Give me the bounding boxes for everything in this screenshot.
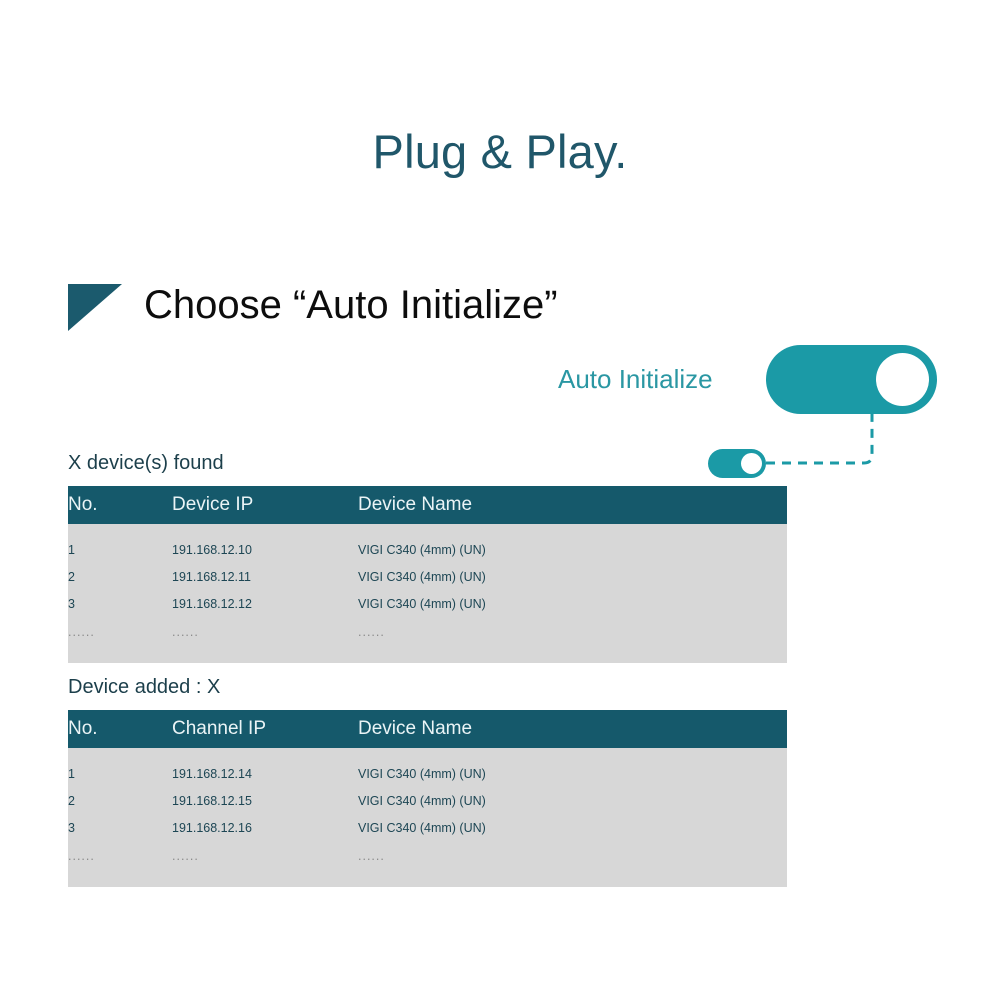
table-row[interactable]: 3 191.168.12.12 VIGI C340 (4mm) (UN) xyxy=(68,590,787,617)
column-header-no: No. xyxy=(68,486,172,524)
cell-device-name: VIGI C340 (4mm) (UN) xyxy=(358,536,787,563)
table-spacer-row xyxy=(68,524,787,536)
cell-device-name: VIGI C340 (4mm) (UN) xyxy=(358,563,787,590)
table-row[interactable]: 1 191.168.12.14 VIGI C340 (4mm) (UN) xyxy=(68,760,787,787)
found-devices-caption: X device(s) found xyxy=(68,452,787,475)
table-tail-row xyxy=(68,871,787,887)
cell-channel-ip-ellipsis: ...... xyxy=(172,841,358,871)
cell-no: 1 xyxy=(68,760,172,787)
table-row[interactable]: 1 191.168.12.10 VIGI C340 (4mm) (UN) xyxy=(68,536,787,563)
cell-device-name: VIGI C340 (4mm) (UN) xyxy=(358,787,787,814)
cell-device-name: VIGI C340 (4mm) (UN) xyxy=(358,760,787,787)
column-header-device-ip: Device IP xyxy=(172,486,358,524)
cell-device-name: VIGI C340 (4mm) (UN) xyxy=(358,590,787,617)
triangle-marker-icon xyxy=(68,284,122,331)
cell-no: 3 xyxy=(68,590,172,617)
cell-no-ellipsis: ...... xyxy=(68,617,172,647)
column-header-device-name: Device Name xyxy=(358,486,787,524)
page-canvas: Plug & Play. Choose “Auto Initialize” Au… xyxy=(0,0,1000,1000)
cell-no: 3 xyxy=(68,814,172,841)
table-row-ellipsis: ...... ...... ...... xyxy=(68,617,787,647)
cell-channel-ip: 191.168.12.14 xyxy=(172,760,358,787)
cell-no: 1 xyxy=(68,536,172,563)
column-header-no: No. xyxy=(68,710,172,748)
section-heading: Choose “Auto Initialize” xyxy=(68,282,558,331)
cell-no: 2 xyxy=(68,787,172,814)
cell-channel-ip: 191.168.12.15 xyxy=(172,787,358,814)
cell-device-ip-ellipsis: ...... xyxy=(172,617,358,647)
cell-channel-ip: 191.168.12.16 xyxy=(172,814,358,841)
cell-device-name-ellipsis: ...... xyxy=(358,841,787,871)
section-heading-label: Choose “Auto Initialize” xyxy=(144,282,558,328)
cell-device-ip: 191.168.12.12 xyxy=(172,590,358,617)
auto-initialize-toggle[interactable] xyxy=(766,345,937,414)
column-header-channel-ip: Channel IP xyxy=(172,710,358,748)
cell-device-ip: 191.168.12.10 xyxy=(172,536,358,563)
found-devices-block: X device(s) found No. Device IP Device N… xyxy=(68,452,787,663)
table-tail-row xyxy=(68,647,787,663)
table-spacer-row xyxy=(68,748,787,760)
table-row[interactable]: 3 191.168.12.16 VIGI C340 (4mm) (UN) xyxy=(68,814,787,841)
page-title: Plug & Play. xyxy=(0,124,1000,179)
cell-no-ellipsis: ...... xyxy=(68,841,172,871)
table-header-row: No. Channel IP Device Name xyxy=(68,710,787,748)
column-header-device-name: Device Name xyxy=(358,710,787,748)
table-row[interactable]: 2 191.168.12.15 VIGI C340 (4mm) (UN) xyxy=(68,787,787,814)
cell-device-name-ellipsis: ...... xyxy=(358,617,787,647)
added-devices-caption: Device added : X xyxy=(68,676,787,699)
added-devices-block: Device added : X No. Channel IP Device N… xyxy=(68,676,787,887)
auto-initialize-label: Auto Initialize xyxy=(558,364,713,395)
cell-device-ip: 191.168.12.11 xyxy=(172,563,358,590)
toggle-knob xyxy=(876,353,929,406)
added-devices-table: No. Channel IP Device Name 1 191.168.12.… xyxy=(68,710,787,887)
table-row-ellipsis: ...... ...... ...... xyxy=(68,841,787,871)
table-header-row: No. Device IP Device Name xyxy=(68,486,787,524)
cell-device-name: VIGI C340 (4mm) (UN) xyxy=(358,814,787,841)
cell-no: 2 xyxy=(68,563,172,590)
found-devices-table: No. Device IP Device Name 1 191.168.12.1… xyxy=(68,486,787,663)
table-row[interactable]: 2 191.168.12.11 VIGI C340 (4mm) (UN) xyxy=(68,563,787,590)
